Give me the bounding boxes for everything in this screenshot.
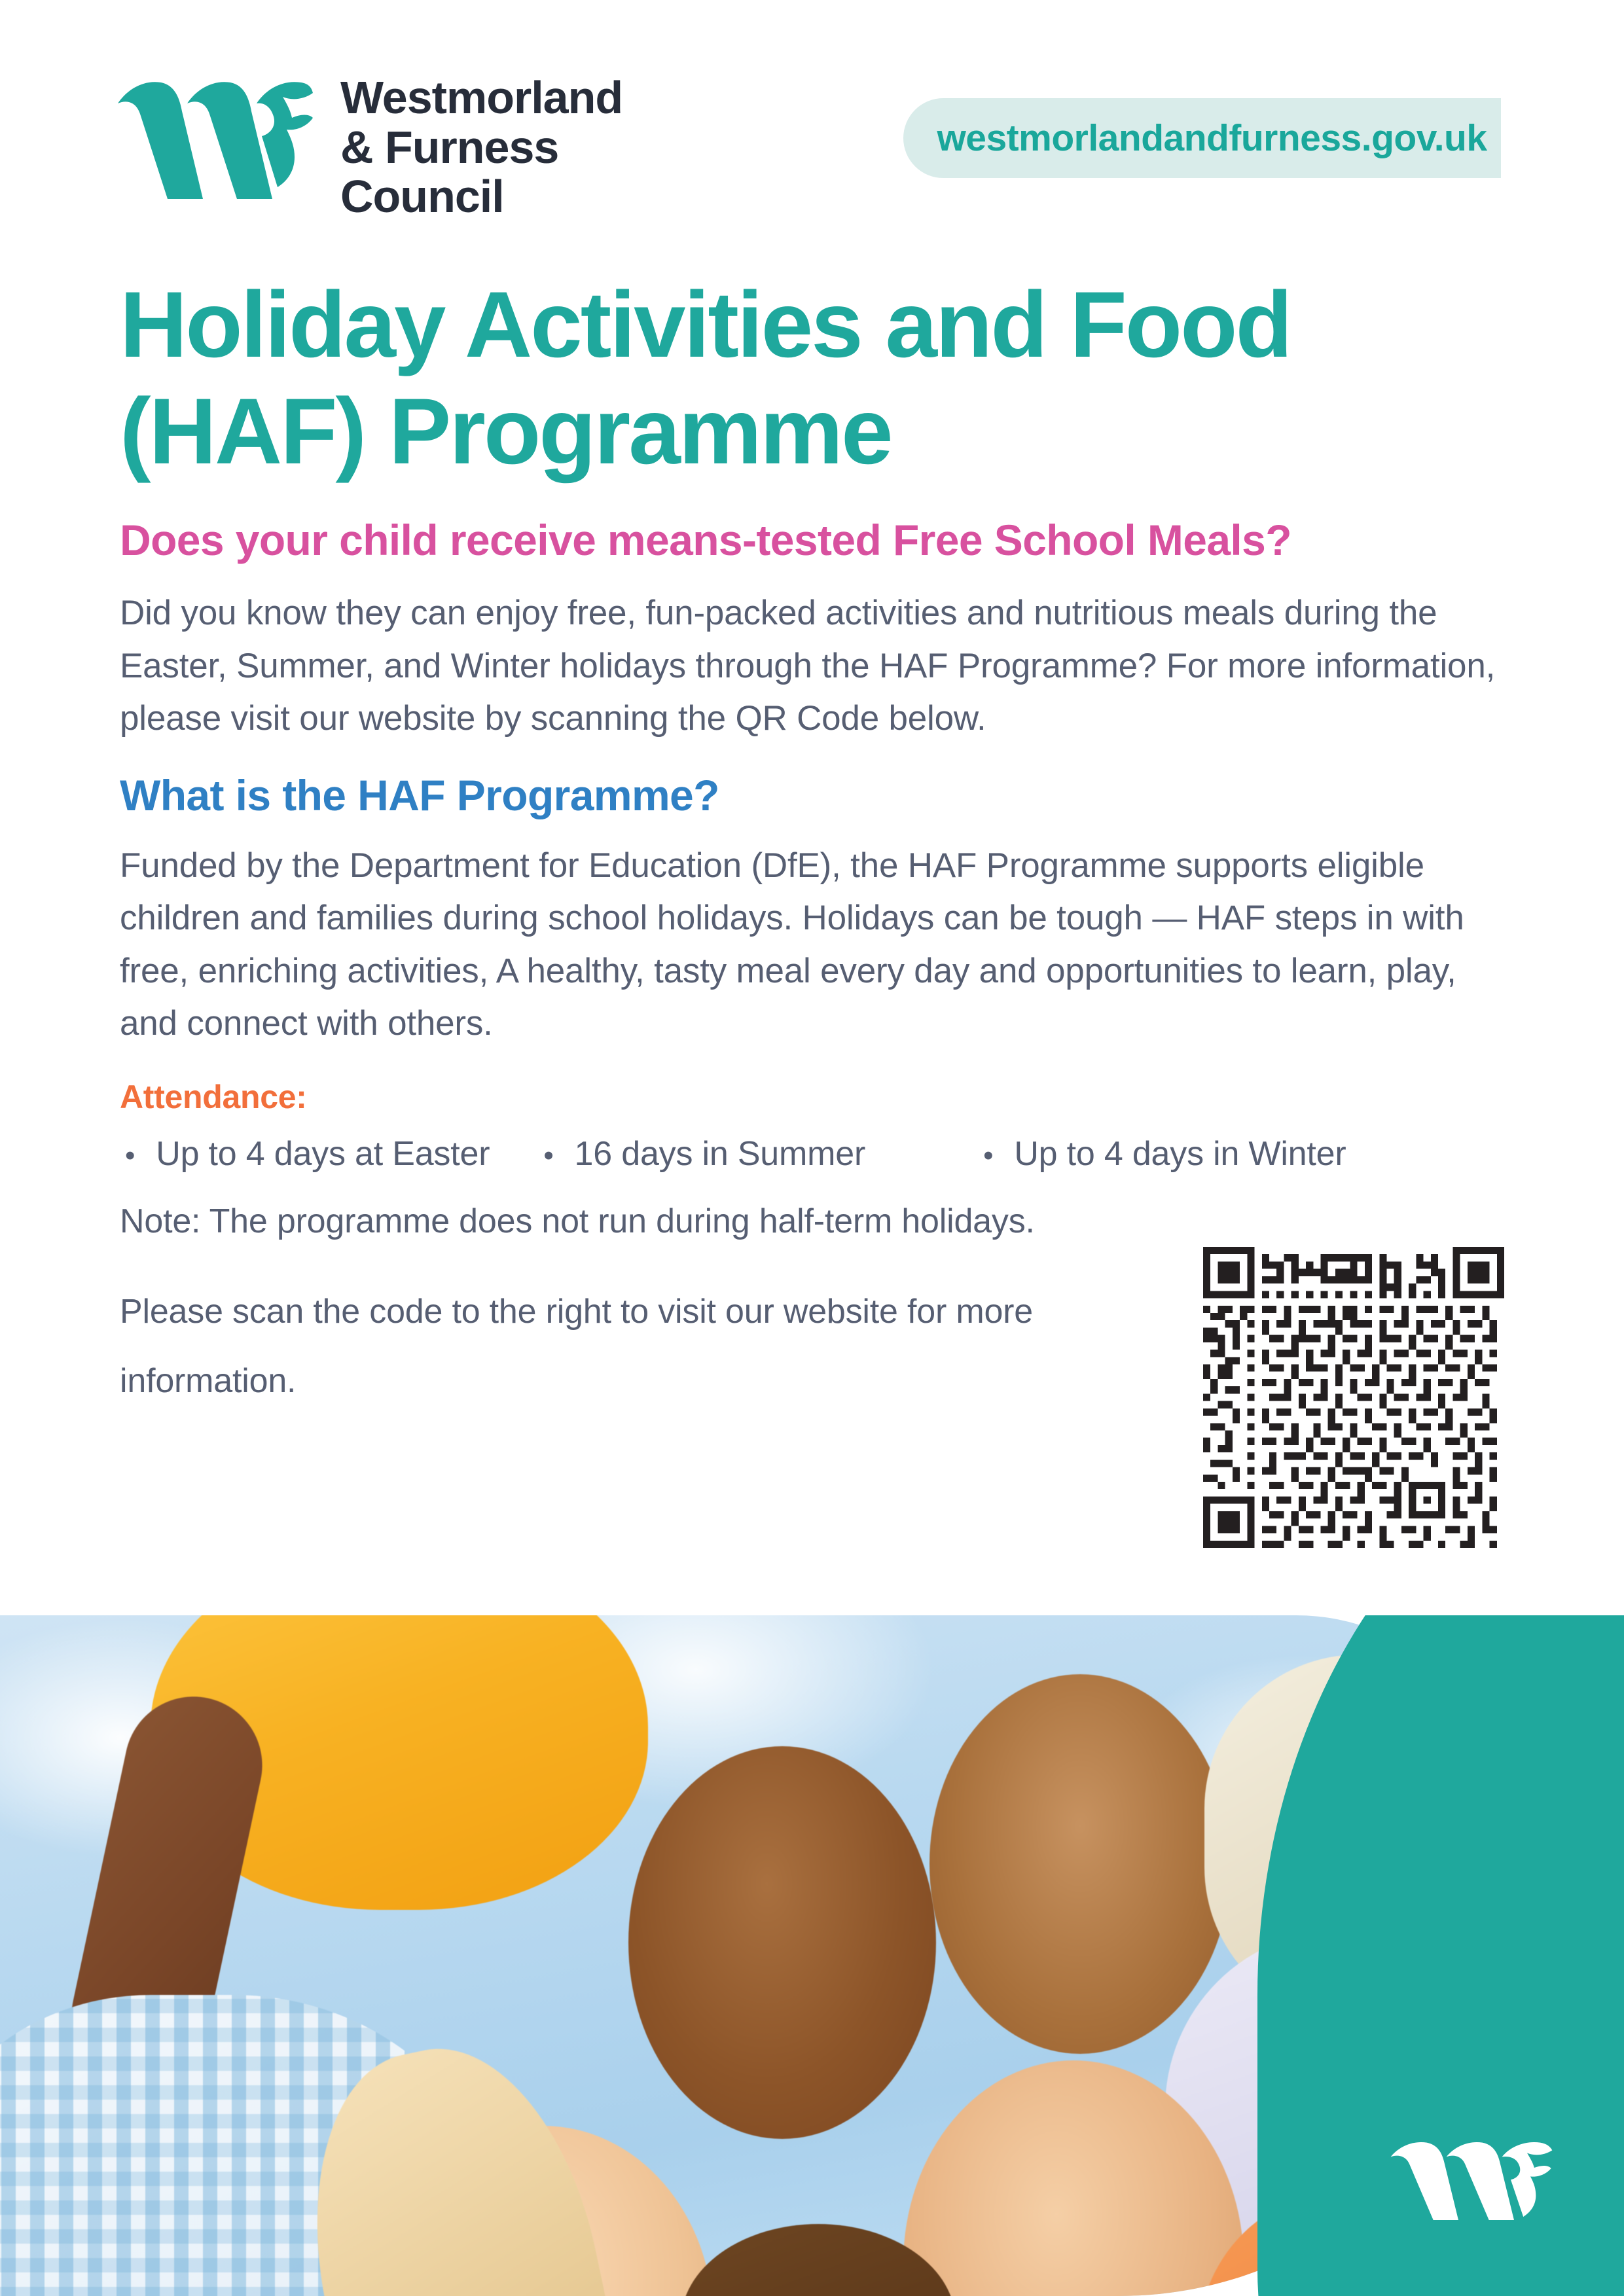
page-title: Holiday Activities and Food (HAF) Progra… xyxy=(120,272,1507,485)
bullet-icon: • xyxy=(983,1141,993,1170)
list-item: • 16 days in Summer xyxy=(543,1134,865,1174)
website-url-banner[interactable]: westmorlandandfurness.gov.uk xyxy=(903,98,1501,178)
attendance-bullet-easter: Up to 4 days at Easter xyxy=(156,1134,490,1174)
poster-content: Holiday Activities and Food (HAF) Progra… xyxy=(120,272,1507,1416)
attendance-bullet-list: • Up to 4 days at Easter • 16 days in Su… xyxy=(120,1134,1507,1174)
scan-instruction: Please scan the code to the right to vis… xyxy=(120,1277,1141,1416)
council-logo: Westmorland & Furness Council xyxy=(117,71,623,222)
bullet-icon: • xyxy=(125,1141,135,1170)
page-title-line-2: (HAF) Programme xyxy=(120,378,1507,485)
qr-code-icon xyxy=(1203,1247,1504,1548)
poster-header: Westmorland & Furness Council westmorlan… xyxy=(0,0,1624,249)
half-term-note: Note: The programme does not run during … xyxy=(120,1196,1507,1247)
attendance-bullet-winter: Up to 4 days in Winter xyxy=(1014,1134,1346,1174)
council-name-line-2: & Furness xyxy=(340,123,623,173)
children-photo xyxy=(0,1615,1624,2296)
attendance-heading: Attendance: xyxy=(120,1078,1507,1116)
child-top-right-face xyxy=(929,1674,1231,2054)
intro-paragraph: Did you know they can enjoy free, fun-pa… xyxy=(120,587,1501,745)
poster-page: Westmorland & Furness Council westmorlan… xyxy=(0,0,1624,2296)
bullet-icon: • xyxy=(543,1141,553,1170)
website-url-text: westmorlandandfurness.gov.uk xyxy=(937,117,1487,160)
list-item: • Up to 4 days at Easter xyxy=(125,1134,490,1174)
what-is-haf-heading: What is the HAF Programme? xyxy=(120,770,1507,820)
qr-code[interactable] xyxy=(1203,1247,1504,1548)
wf-council-flag-logo-icon xyxy=(117,71,313,218)
attendance-bullet-summer: 16 days in Summer xyxy=(575,1134,866,1174)
child-centre-top-face xyxy=(628,1746,936,2139)
free-school-meals-heading: Does your child receive means-tested Fre… xyxy=(120,515,1507,565)
children-photo-image xyxy=(0,1615,1512,2296)
council-name: Westmorland & Furness Council xyxy=(340,73,623,222)
about-paragraph: Funded by the Department for Education (… xyxy=(120,840,1501,1050)
list-item: • Up to 4 days in Winter xyxy=(983,1134,1346,1174)
council-name-line-3: Council xyxy=(340,172,623,222)
council-name-line-1: Westmorland xyxy=(340,73,623,123)
page-title-line-1: Holiday Activities and Food xyxy=(120,272,1507,378)
